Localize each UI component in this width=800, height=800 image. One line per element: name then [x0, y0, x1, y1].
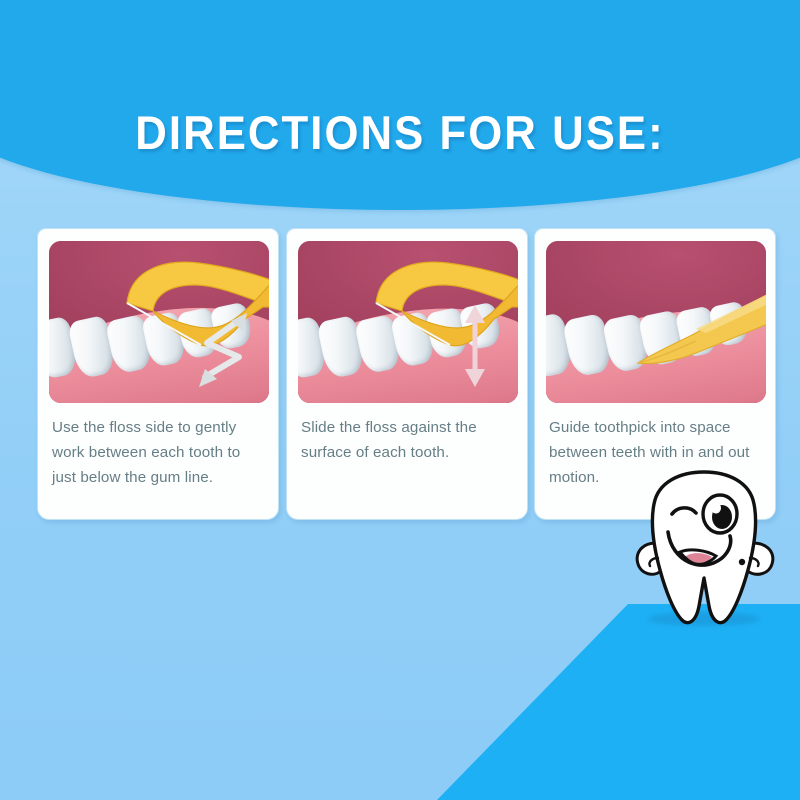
step-1-caption: Use the floss side to gently work betwee…: [52, 415, 266, 490]
step-2-caption: Slide the floss against the surface of e…: [301, 415, 515, 465]
step-3-illustration: [546, 241, 766, 403]
up-and-down-motion-arrow: [462, 303, 488, 389]
back-and-forth-motion-arrow: [185, 309, 259, 393]
instruction-card-2: Slide the floss against the surface of e…: [286, 228, 528, 520]
winking-tooth-mascot: [628, 466, 780, 634]
step-1-illustration: [49, 241, 269, 403]
step-2-illustration: [298, 241, 518, 403]
page-title: DIRECTIONS FOR USE:: [28, 104, 772, 162]
instruction-card-1: Use the floss side to gently work betwee…: [37, 228, 279, 520]
directions-for-use-graphic: DIRECTIONS FOR USE:: [0, 0, 800, 800]
toothpick-tool: [546, 241, 766, 403]
